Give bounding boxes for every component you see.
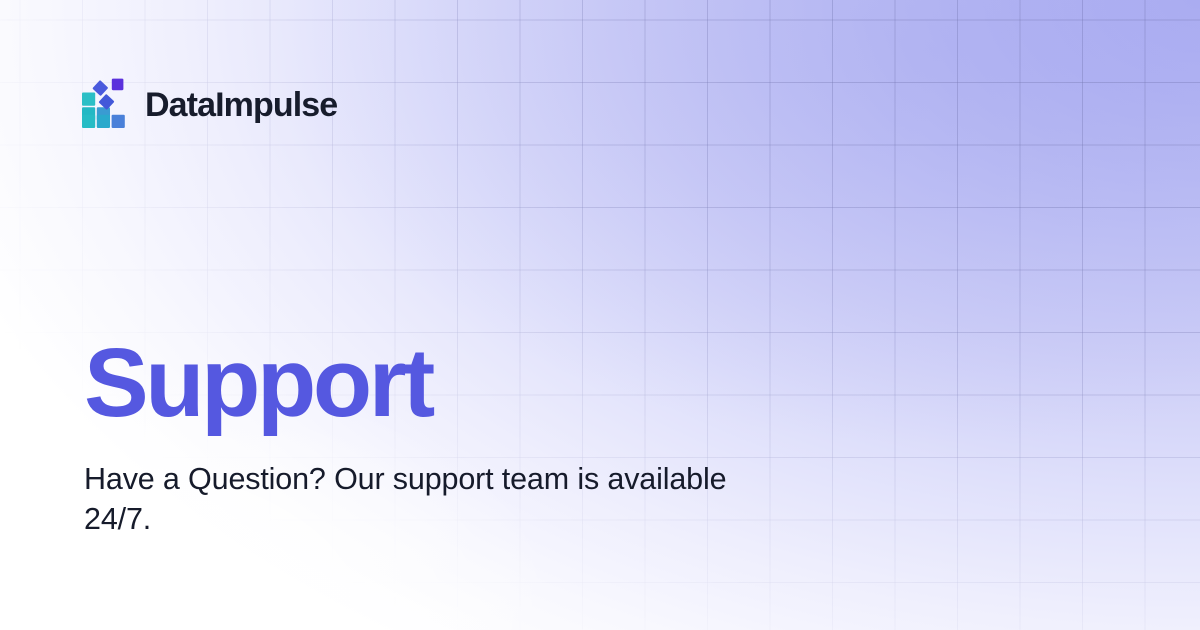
hero-subtitle: Have a Question? Our support team is ava… [84,459,729,540]
tile-teal-bottom-mid [97,115,110,128]
tile-blue-bottom-right [112,115,125,128]
square-purple-accent [112,79,124,91]
tile-teal-top-left [82,93,95,106]
support-banner: DataImpulse Support Have a Question? Our… [0,0,1200,630]
dataimpulse-logo-icon [82,78,128,128]
brand-wordmark: DataImpulse [145,85,337,122]
page-title: Support [84,334,844,431]
brand-lockup[interactable]: DataImpulse [82,78,337,128]
hero-content: Support Have a Question? Our support tea… [84,334,844,540]
tile-teal-bottom-left [82,115,95,128]
